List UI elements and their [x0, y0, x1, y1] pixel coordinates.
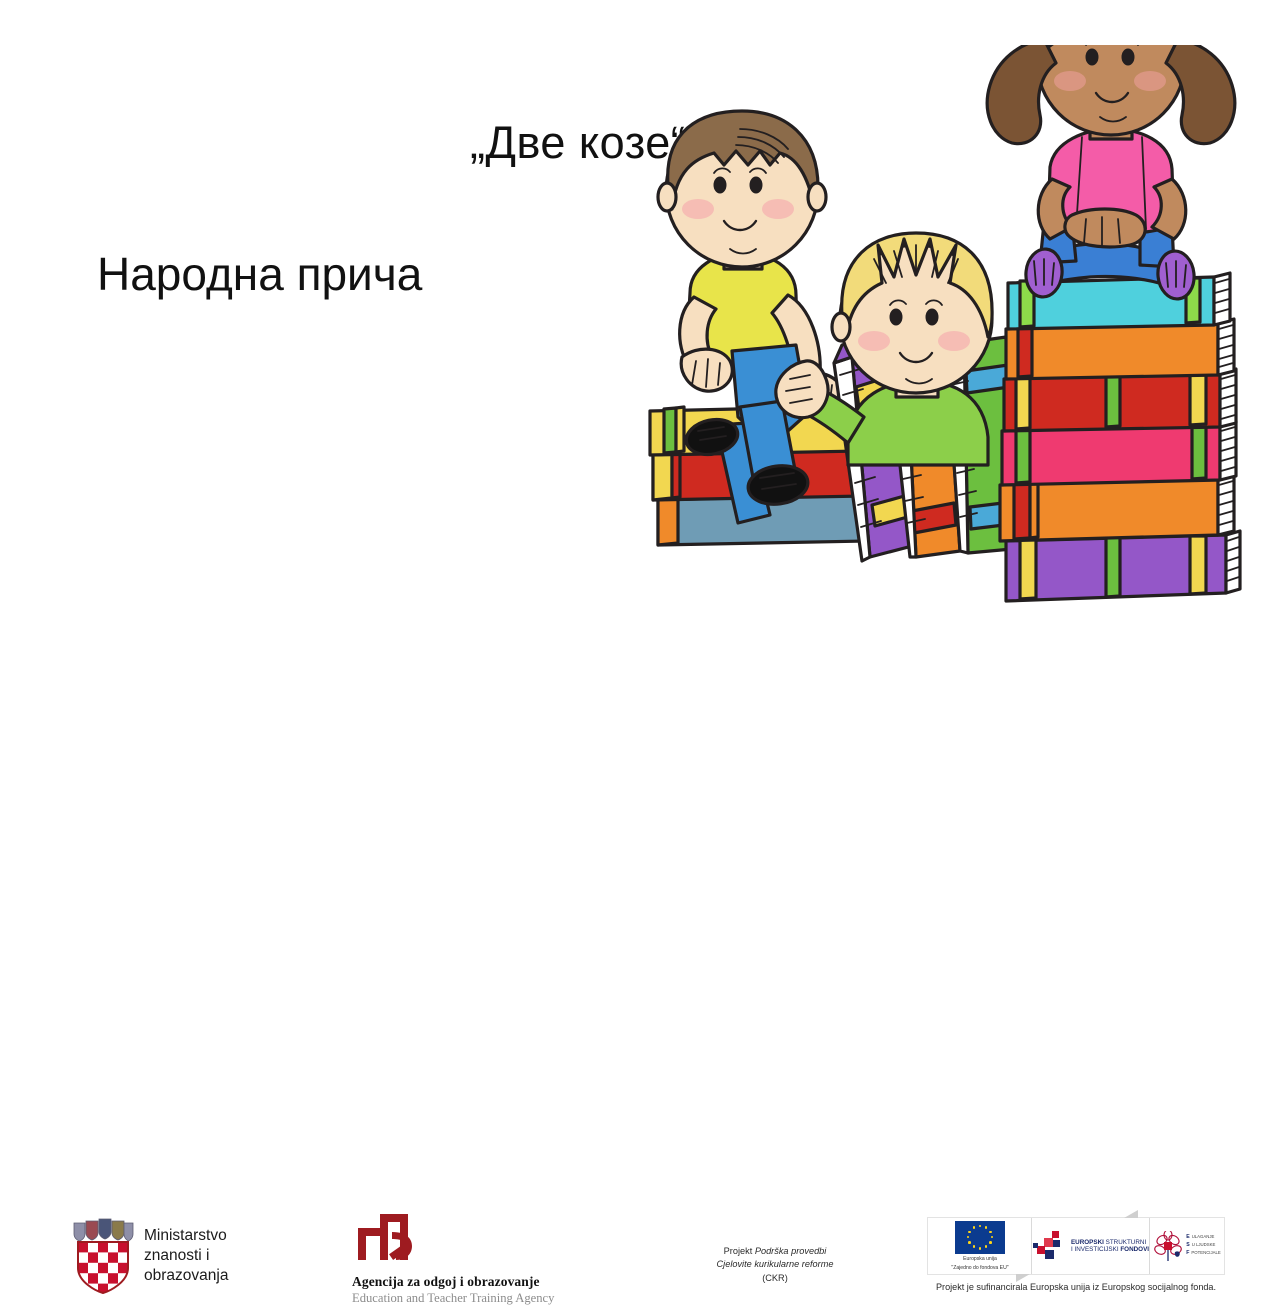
illustration-svg: .ol { stroke:#231f20; stroke-width:3.2; …: [620, 45, 1260, 620]
esf-cell: E ULAGANJE S U LJUDSKE F POTENCIJALE: [1150, 1218, 1224, 1274]
project-note-prefix: Projekt: [724, 1246, 755, 1256]
esf-word-1: ULAGANJE: [1192, 1234, 1215, 1242]
ministry-line-2: znanosti i: [144, 1246, 228, 1266]
illustration-children-with-books: .ol { stroke:#231f20; stroke-width:3.2; …: [620, 45, 1260, 620]
esf-word-3: POTENCIJALE: [1191, 1250, 1220, 1258]
esf-letter-e: E: [1186, 1234, 1189, 1242]
eu-flag-caption-line-1: Europska unija: [951, 1256, 1008, 1263]
page-subtitle: Народна прича: [97, 247, 422, 301]
ministry-line-3: obrazovanja: [144, 1266, 228, 1286]
eu-funding-banner: Europska unija "Zajedno do fondova EU": [928, 1216, 1224, 1312]
project-note: Projekt Podrška provedbi Cjelovite kurik…: [670, 1245, 880, 1285]
agency-name-hr: Agencija za odgoj i obrazovanje: [352, 1274, 554, 1290]
eu-funding-caption: Projekt je sufinancirala Europska unija …: [928, 1282, 1224, 1292]
esf-letter-f: F: [1186, 1250, 1189, 1258]
esif-line-2-rest: I INVESTICIJSKI: [1071, 1246, 1120, 1253]
esif-squares-icon: [1033, 1231, 1067, 1261]
eu-flag-cell: Europska unija "Zajedno do fondova EU": [928, 1218, 1032, 1274]
esif-cell: EUROPSKI STRUKTURNI I INVESTICIJSKI FOND…: [1032, 1218, 1150, 1274]
ministry-name: Ministarstvo znanosti i obrazovanja: [144, 1226, 228, 1285]
eu-logos-strip: Europska unija "Zajedno do fondova EU": [928, 1218, 1224, 1274]
slide-canvas: „Две козе“ Народна прича .ol { stroke:#2…: [0, 0, 1280, 720]
eu-flag-icon: [955, 1221, 1005, 1254]
project-note-abbrev: (CKR): [762, 1273, 788, 1283]
child-girl-right: [987, 45, 1235, 301]
book-stack-right: [1000, 273, 1240, 601]
azoo-monogram-icon: [356, 1212, 434, 1262]
project-note-italic-1: Podrška provedbi: [755, 1246, 827, 1256]
ribbon-corner-bottom: [1016, 1274, 1030, 1282]
eu-flag-caption-line-2: "Zajedno do fondova EU": [951, 1265, 1008, 1272]
logo-education-teacher-training-agency: Agencija za odgoj i obrazovanje Educatio…: [352, 1212, 554, 1306]
esif-line-1-bold: EUROPSKI: [1071, 1239, 1104, 1246]
ministry-line-1: Ministarstvo: [144, 1226, 228, 1246]
esf-word-2: U LJUDSKE: [1192, 1242, 1216, 1250]
esif-line-2-bold: FONDOVI: [1120, 1246, 1149, 1253]
esif-line-1-rest: STRUKTURNI: [1104, 1239, 1146, 1246]
esf-flower-icon: [1153, 1231, 1183, 1261]
ribbon-corner-top: [1124, 1210, 1138, 1218]
agency-name-en: Education and Teacher Training Agency: [352, 1291, 554, 1306]
logo-ministry-science-education: Ministarstvo znanosti i obrazovanja: [72, 1218, 228, 1294]
footer-logos: Ministarstvo znanosti i obrazovanja Agen…: [0, 600, 1280, 720]
esf-letter-s: S: [1186, 1242, 1189, 1250]
project-note-italic-2: Cjelovite kurikularne reforme: [717, 1259, 834, 1269]
croatian-coat-of-arms-icon: [72, 1218, 134, 1294]
